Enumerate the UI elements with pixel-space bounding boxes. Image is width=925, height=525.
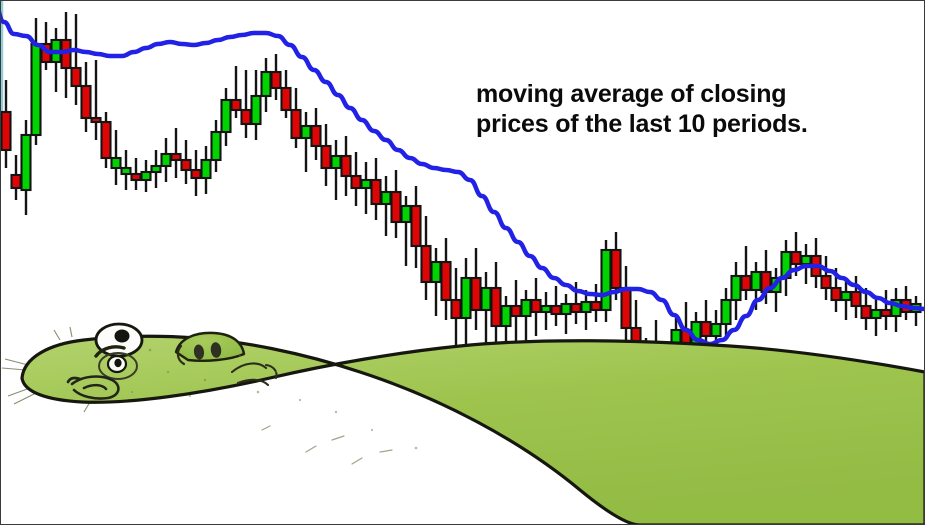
screenshot-stage: moving average of closing prices of the … [0, 0, 925, 525]
stalked-eye-pupil [115, 330, 130, 343]
skin-scratch-marks [262, 426, 392, 464]
cartoon-lizard [0, 0, 925, 525]
lizard-body-shape [22, 336, 925, 525]
head-eye-pupil [114, 359, 121, 367]
